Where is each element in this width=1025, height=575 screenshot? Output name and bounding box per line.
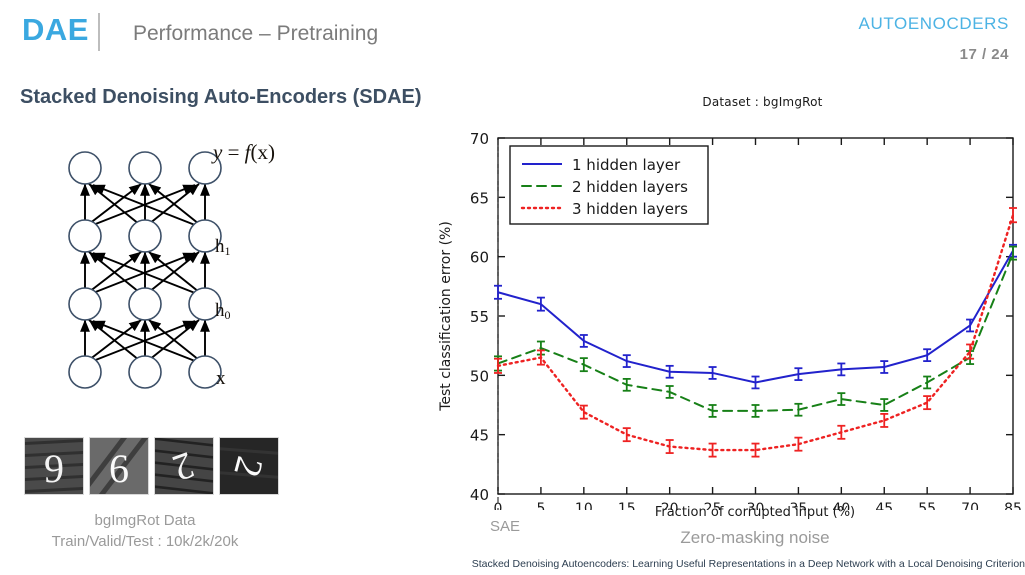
chart-yaxis-label: Test classification error (%) bbox=[438, 221, 454, 412]
svg-text:9: 9 bbox=[44, 446, 64, 491]
slide-root: DAE Performance – Pretraining AUTOENOCDE… bbox=[0, 0, 1025, 575]
diagram-label-input: x bbox=[216, 368, 226, 390]
y-tick-label: 65 bbox=[470, 189, 489, 207]
y-tick-label: 50 bbox=[470, 367, 489, 385]
header-divider bbox=[98, 13, 100, 51]
diagram-label-hidden0: h0 bbox=[215, 300, 231, 323]
y-tick-label: 70 bbox=[470, 130, 489, 148]
brand-logo: DAE bbox=[22, 12, 89, 48]
svg-text:6: 6 bbox=[109, 446, 129, 491]
thumbnail-image: 2 bbox=[219, 437, 279, 495]
diagram-label-hidden1: h1 bbox=[215, 236, 231, 259]
header-subtitle: Performance – Pretraining bbox=[133, 22, 378, 46]
dataset-caption-line1: bgImgRot Data bbox=[0, 512, 290, 529]
network-diagram-svg bbox=[45, 132, 355, 397]
thumbnail-image: 9 bbox=[24, 437, 84, 495]
legend-label: 2 hidden layers bbox=[572, 178, 688, 196]
legend-label: 1 hidden layer bbox=[572, 156, 681, 174]
dataset-thumbnails: 9 6 2 bbox=[24, 437, 279, 495]
dataset-caption-line2: Train/Valid/Test : 10k/2k/20k bbox=[0, 533, 290, 550]
network-diagram bbox=[45, 132, 355, 397]
series-1 bbox=[494, 245, 1017, 389]
page-title: Stacked Denoising Auto-Encoders (SDAE) bbox=[20, 86, 422, 109]
footer-citation: Stacked Denoising Autoencoders: Learning… bbox=[430, 558, 1025, 570]
header-section-name: AUTOENOCDERS bbox=[859, 14, 1009, 34]
chart-plot: 40455055606570051015202530354045557085Te… bbox=[430, 90, 1025, 510]
thumbnail-image: 2 bbox=[154, 437, 214, 495]
y-tick-label: 60 bbox=[470, 249, 489, 267]
y-tick-label: 55 bbox=[470, 308, 489, 326]
diagram-label-output: y = f(x) bbox=[213, 140, 275, 165]
y-tick-label: 40 bbox=[470, 486, 489, 504]
noise-type-annotation: Zero-masking noise bbox=[430, 528, 1025, 548]
series-line bbox=[498, 251, 1013, 383]
thumbnail-image: 6 bbox=[89, 437, 149, 495]
y-tick-label: 45 bbox=[470, 427, 489, 445]
page-number: 17 / 24 bbox=[960, 46, 1009, 63]
chart-container: Dataset : bgImgRot 404550556065700510152… bbox=[430, 90, 1025, 560]
legend-label: 3 hidden layers bbox=[572, 200, 688, 218]
